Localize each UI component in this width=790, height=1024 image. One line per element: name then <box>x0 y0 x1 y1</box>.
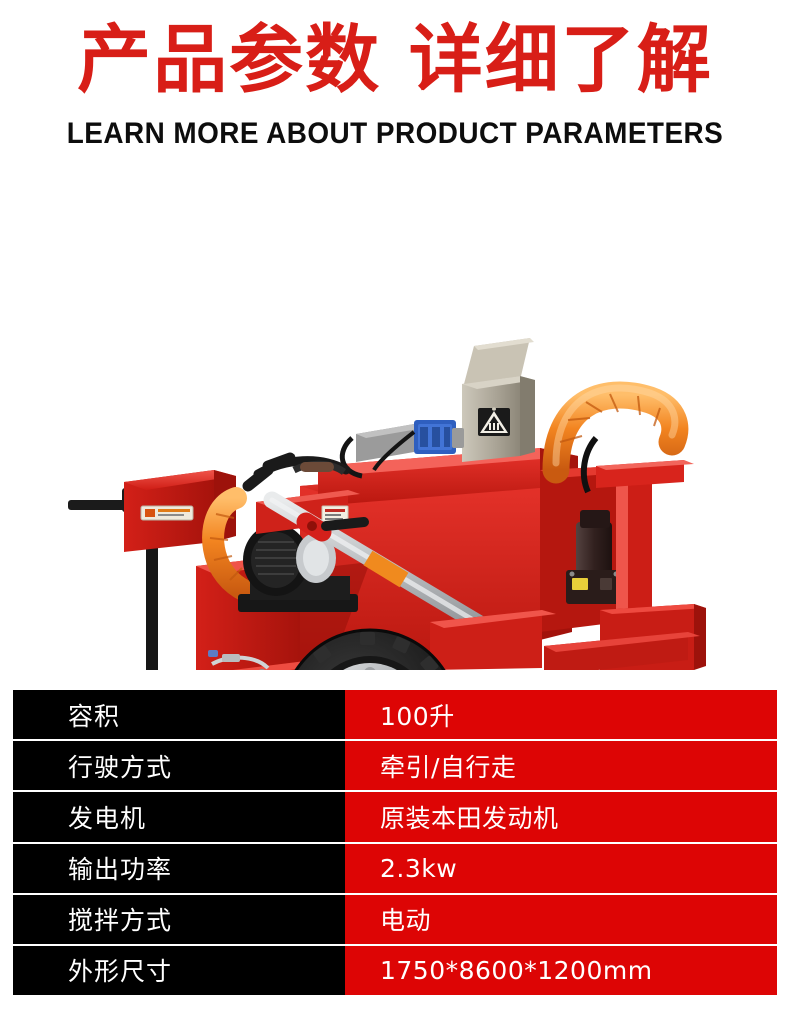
spec-label: 搅拌方式 <box>13 895 345 944</box>
page-subtitle-english: LEARN MORE ABOUT PRODUCT PARAMETERS <box>28 114 763 154</box>
table-row: 容积 100升 <box>13 690 777 741</box>
spec-value: 原装本田发动机 <box>345 792 777 841</box>
material-hopper <box>462 338 535 462</box>
table-row: 搅拌方式 电动 <box>13 895 777 946</box>
spec-label: 行驶方式 <box>13 741 345 790</box>
product-photo <box>0 170 790 670</box>
page-title-chinese: 产品参数 详细了解 <box>0 16 790 104</box>
spec-value: 100升 <box>345 690 777 739</box>
product-illustration <box>0 170 790 670</box>
spec-value: 2.3kw <box>345 844 777 893</box>
spec-label: 容积 <box>13 690 345 739</box>
spec-table: 容积 100升 行驶方式 牵引/自行走 发电机 原装本田发动机 输出功率 2.3… <box>13 690 777 995</box>
page-header: 产品参数 详细了解 LEARN MORE ABOUT PRODUCT PARAM… <box>0 0 790 170</box>
spec-label: 外形尺寸 <box>13 946 345 995</box>
warning-label-icon <box>478 407 510 436</box>
spec-value: 电动 <box>345 895 777 944</box>
spec-label: 输出功率 <box>13 844 345 893</box>
table-row: 行驶方式 牵引/自行走 <box>13 741 777 792</box>
spec-label: 发电机 <box>13 792 345 841</box>
table-row: 外形尺寸 1750*8600*1200mm <box>13 946 777 995</box>
table-row: 输出功率 2.3kw <box>13 844 777 895</box>
product-parameters-page: 产品参数 详细了解 LEARN MORE ABOUT PRODUCT PARAM… <box>0 0 790 1024</box>
table-row: 发电机 原装本田发动机 <box>13 792 777 843</box>
spec-value: 1750*8600*1200mm <box>345 946 777 995</box>
spec-value: 牵引/自行走 <box>345 741 777 790</box>
